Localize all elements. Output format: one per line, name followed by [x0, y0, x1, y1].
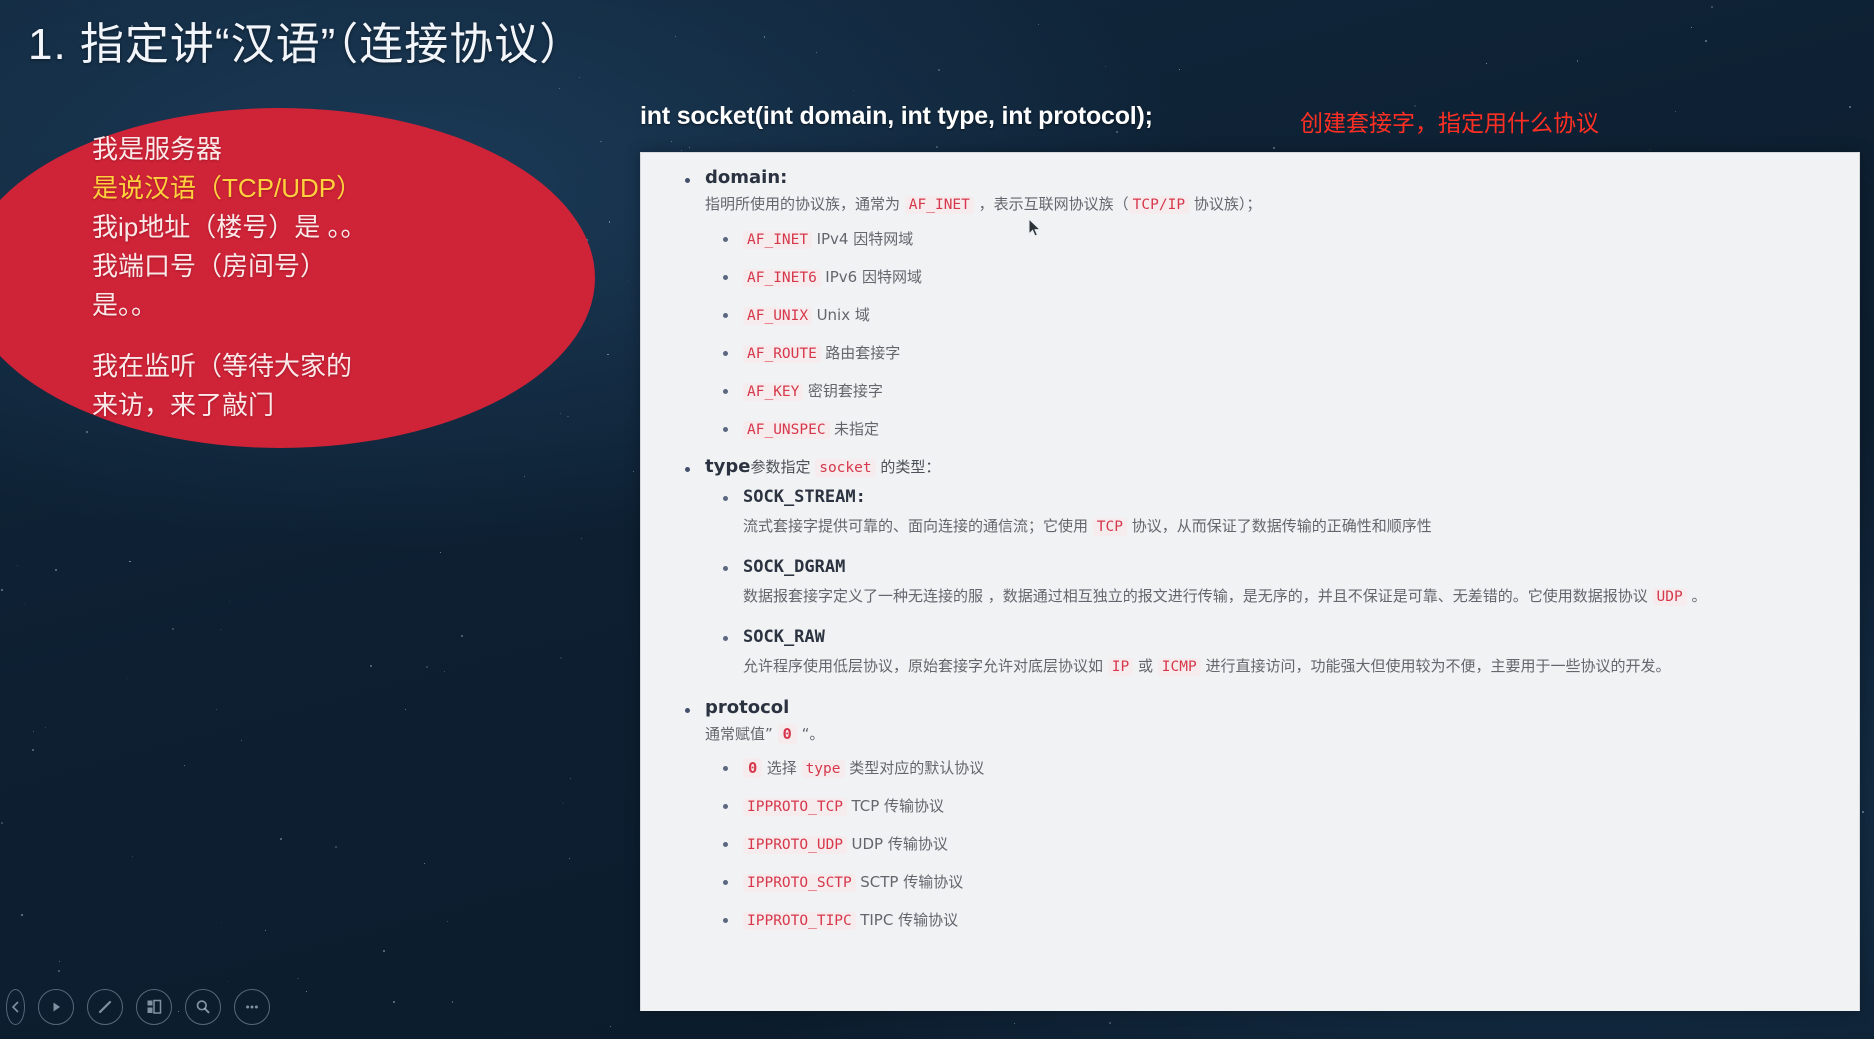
- param-domain: domain: 指明所使用的协议族，通常为 AF_INET ，表示互联网协议族（…: [671, 167, 1833, 439]
- param-type: type参数指定 socket 的类型： SOCK_STREAM: 流式套接字提…: [671, 456, 1833, 680]
- list-item: 0 选择 type 类型对应的默认协议: [705, 757, 1833, 778]
- constant-label: 类型对应的默认协议: [845, 759, 985, 777]
- desc-text: “。: [797, 725, 825, 743]
- list-item: AF_UNSPEC 未指定: [705, 418, 1833, 439]
- constant-code: AF_INET6: [743, 269, 821, 287]
- list-item: IPPROTO_UDP UDP 传输协议: [705, 833, 1833, 854]
- desc-text: ，表示互联网协议族（: [974, 195, 1129, 213]
- bubble-line: 我是服务器: [92, 130, 522, 169]
- constant-label: 选择: [767, 759, 802, 777]
- bubble-line: 我ip地址（楼号）是 。。: [92, 208, 522, 247]
- bubble-line-highlight: 是说汉语（TCP/UDP）: [92, 169, 522, 208]
- desc-code: TCP: [1093, 518, 1127, 536]
- desc-code: AF_INET: [905, 196, 974, 214]
- constant-code: IPPROTO_TCP: [743, 798, 847, 816]
- bubble-line-spacer: [92, 325, 522, 347]
- sock-description: 流式套接字提供可靠的、面向连接的通信流；它使用 TCP 协议，从而保证了数据传输…: [743, 513, 1833, 540]
- list-item: AF_INET IPv4 因特网域: [705, 228, 1833, 249]
- more-options-icon[interactable]: [234, 989, 270, 1025]
- constant-label: UDP 传输协议: [851, 835, 947, 853]
- desc-text: 或: [1133, 657, 1158, 675]
- desc-text: 指明所使用的协议族，通常为: [705, 195, 905, 213]
- constant-label: IPv4 因特网域: [817, 230, 914, 248]
- protocol-constant-list: 0 选择 type 类型对应的默认协议 IPPROTO_TCP TCP 传输协议…: [705, 757, 1833, 930]
- desc-code: UDP: [1653, 588, 1687, 606]
- sock-description: 允许程序使用低层协议，原始套接字允许对底层协议如 IP 或 ICMP 进行直接访…: [743, 653, 1833, 680]
- ellipse-annotation-text: 我是服务器 是说汉语（TCP/UDP） 我ip地址（楼号）是 。。 我端口号（房…: [92, 130, 522, 425]
- param-type-term: type: [705, 456, 750, 477]
- constant-code: AF_UNSPEC: [743, 421, 830, 439]
- constant-code: AF_ROUTE: [743, 345, 821, 363]
- desc-text: 通常赋值”: [705, 725, 778, 743]
- constant-code: 0: [743, 758, 762, 778]
- zoom-icon[interactable]: [185, 989, 221, 1025]
- pen-icon[interactable]: [87, 989, 123, 1025]
- desc-text: 流式套接字提供可靠的、面向连接的通信流；它使用: [743, 517, 1093, 535]
- list-item: SOCK_STREAM: 流式套接字提供可靠的、面向连接的通信流；它使用 TCP…: [705, 487, 1833, 540]
- function-signature: int socket(int domain, int type, int pro…: [640, 102, 1153, 131]
- sock-description: 数据报套接字定义了一种无连接的服 ，数据通过相互独立的报文进行传输，是无序的，并…: [743, 583, 1833, 610]
- constant-code: IPPROTO_SCTP: [743, 874, 856, 892]
- param-domain-colon: :: [780, 167, 787, 188]
- param-protocol-term: protocol: [705, 697, 789, 718]
- desc-text: 允许程序使用低层协议，原始套接字允许对底层协议如: [743, 657, 1108, 675]
- constant-label: IPv6 因特网域: [825, 268, 922, 286]
- type-constant-list: SOCK_STREAM: 流式套接字提供可靠的、面向连接的通信流；它使用 TCP…: [705, 487, 1833, 680]
- presenter-toolbar[interactable]: [6, 989, 270, 1025]
- desc-code: 0: [778, 724, 797, 744]
- param-protocol: protocol 通常赋值” 0 “。 0 选择 type 类型对应的默认协议 …: [671, 697, 1833, 930]
- desc-code: IP: [1108, 658, 1133, 676]
- param-domain-description: 指明所使用的协议族，通常为 AF_INET ，表示互联网协议族（TCP/IP 协…: [705, 191, 1833, 218]
- constant-label-code: type: [802, 760, 845, 778]
- bubble-line: 是。。: [92, 286, 522, 325]
- constant-code: AF_UNIX: [743, 307, 812, 325]
- param-type-head: 参数指定: [750, 458, 815, 476]
- sock-name: SOCK_RAW: [743, 627, 825, 647]
- slide-overview-icon[interactable]: [136, 989, 172, 1025]
- desc-text: 。: [1687, 587, 1707, 605]
- constant-code: AF_KEY: [743, 383, 803, 401]
- desc-text: 进行直接访问，功能强大但使用较为不便，主要用于一些协议的开发。: [1201, 657, 1671, 675]
- list-item: IPPROTO_TIPC TIPC 传输协议: [705, 909, 1833, 930]
- sock-name: SOCK_STREAM:: [743, 487, 866, 507]
- documentation-panel[interactable]: domain: 指明所使用的协议族，通常为 AF_INET ，表示互联网协议族（…: [640, 152, 1860, 1011]
- constant-label: 密钥套接字: [808, 382, 883, 400]
- list-item: IPPROTO_TCP TCP 传输协议: [705, 795, 1833, 816]
- param-domain-term: domain: [705, 167, 780, 188]
- constant-label: TIPC 传输协议: [860, 911, 958, 929]
- desc-text: 数据报套接字定义了一种无连接的服 ，数据通过相互独立的报文进行传输，是无序的，并…: [743, 587, 1653, 605]
- mouse-cursor: [1028, 218, 1042, 238]
- constant-code: AF_INET: [743, 231, 812, 249]
- list-item: SOCK_DGRAM 数据报套接字定义了一种无连接的服 ，数据通过相互独立的报文…: [705, 557, 1833, 610]
- bubble-line: 来访，来了敲门: [92, 386, 522, 425]
- previous-icon[interactable]: [6, 989, 25, 1025]
- bubble-line: 我在监听（等待大家的: [92, 347, 522, 386]
- constant-label: TCP 传输协议: [851, 797, 944, 815]
- param-protocol-description: 通常赋值” 0 “。: [705, 721, 1833, 747]
- domain-constant-list: AF_INET IPv4 因特网域 AF_INET6 IPv6 因特网域 AF_…: [705, 228, 1833, 439]
- param-type-head-code: socket: [815, 459, 875, 477]
- desc-text: 协议，从而保证了数据传输的正确性和顺序性: [1127, 517, 1432, 535]
- constant-label: 路由套接字: [825, 344, 900, 362]
- list-item: SOCK_RAW 允许程序使用低层协议，原始套接字允许对底层协议如 IP 或 I…: [705, 627, 1833, 680]
- play-icon[interactable]: [38, 989, 74, 1025]
- list-item: AF_UNIX Unix 域: [705, 304, 1833, 325]
- param-type-head-post: 的类型：: [876, 458, 941, 476]
- constant-label: SCTP 传输协议: [860, 873, 963, 891]
- sock-name: SOCK_DGRAM: [743, 557, 845, 577]
- page-title: 1. 指定讲“汉语”（连接协议）: [28, 8, 584, 72]
- desc-text: 协议族）；: [1189, 195, 1261, 213]
- constant-code: IPPROTO_UDP: [743, 836, 847, 854]
- list-item: AF_KEY 密钥套接字: [705, 380, 1833, 401]
- constant-label: Unix 域: [817, 306, 870, 324]
- list-item: AF_ROUTE 路由套接字: [705, 342, 1833, 363]
- bubble-line: 我端口号（房间号）: [92, 247, 522, 286]
- doc-parameter-list: domain: 指明所使用的协议族，通常为 AF_INET ，表示互联网协议族（…: [671, 167, 1833, 930]
- list-item: IPPROTO_SCTP SCTP 传输协议: [705, 871, 1833, 892]
- desc-code: ICMP: [1158, 658, 1201, 676]
- list-item: AF_INET6 IPv6 因特网域: [705, 266, 1833, 287]
- presentation-slide: 1. 指定讲“汉语”（连接协议） 我是服务器 是说汉语（TCP/UDP） 我ip…: [0, 0, 1874, 1039]
- desc-code: TCP/IP: [1129, 196, 1189, 214]
- constant-code: IPPROTO_TIPC: [743, 912, 856, 930]
- signature-red-note: 创建套接字，指定用什么协议: [1300, 104, 1599, 138]
- constant-label: 未指定: [834, 420, 879, 438]
